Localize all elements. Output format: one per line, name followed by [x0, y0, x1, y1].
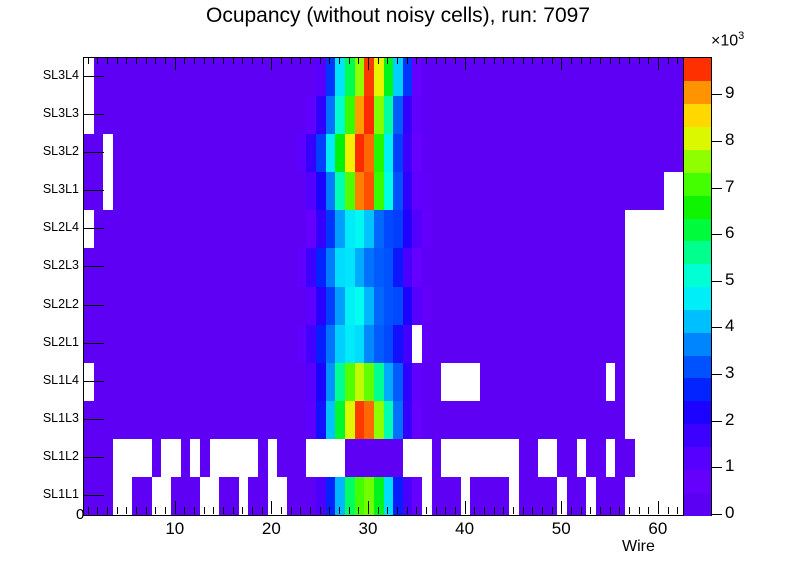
x-axis-top-tick	[242, 57, 243, 64]
x-axis-top-tick	[320, 57, 321, 64]
x-axis-top-tick	[619, 57, 620, 64]
x-axis-top-tick	[349, 57, 350, 64]
x-axis-top-tick	[494, 57, 495, 64]
x-axis-minor-tick	[204, 507, 205, 514]
x-axis-top-tick	[387, 57, 388, 64]
y-axis-tick	[83, 495, 104, 496]
colorbar-segment	[684, 469, 711, 492]
x-axis-top-tick	[107, 57, 108, 64]
x-axis-top-tick	[677, 57, 678, 64]
y-axis-tick	[83, 152, 104, 153]
y-axis-tick	[83, 305, 104, 306]
colorbar-tick	[711, 514, 722, 515]
x-axis-minor-tick	[184, 507, 185, 514]
x-axis-top-tick	[658, 57, 659, 70]
x-axis-top-tick	[368, 57, 369, 70]
x-axis-top-tick	[416, 57, 417, 64]
x-axis-top-tick	[310, 57, 311, 64]
x-axis-minor-tick	[146, 507, 147, 514]
x-axis-minor-tick	[677, 507, 678, 514]
x-axis-top-tick	[648, 57, 649, 64]
y-axis-tick	[83, 419, 104, 420]
heatmap-cell	[673, 401, 683, 440]
x-axis-minor-tick	[262, 507, 263, 514]
x-axis-minor-tick	[494, 507, 495, 514]
colorbar-segment	[684, 127, 711, 150]
x-axis-minor-tick	[233, 507, 234, 514]
y-axis-tick	[83, 343, 104, 344]
x-axis-tick-label: 20	[251, 519, 291, 539]
x-axis-top-tick	[590, 57, 591, 64]
x-axis-minor-tick	[223, 507, 224, 514]
y-axis-tick-label: SL1L2	[21, 449, 79, 463]
x-axis-top-tick	[233, 57, 234, 64]
colorbar-segment	[684, 264, 711, 287]
heatmap-cell	[673, 439, 683, 478]
x-axis-top-tick	[194, 57, 195, 64]
colorbar-segment	[684, 492, 711, 515]
x-axis-major-tick	[271, 501, 272, 514]
x-axis-minor-tick	[349, 507, 350, 514]
x-axis-major-tick	[368, 501, 369, 514]
x-axis-top-tick	[629, 57, 630, 64]
colorbar-tick-label: 0	[725, 503, 734, 523]
x-axis-minor-tick	[503, 507, 504, 514]
x-axis-top-tick	[513, 57, 514, 64]
x-axis-minor-tick	[590, 507, 591, 514]
heatmap-cell	[673, 248, 683, 287]
x-axis-minor-tick	[532, 507, 533, 514]
x-axis-major-tick	[561, 501, 562, 514]
x-axis-minor-tick	[310, 507, 311, 514]
x-axis-top-tick	[445, 57, 446, 64]
x-axis-minor-tick	[300, 507, 301, 514]
y-axis-tick	[83, 266, 104, 267]
page-title: Ocupancy (without noisy cells), run: 709…	[0, 4, 796, 28]
colorbar-segment	[684, 401, 711, 424]
x-axis-top-tick	[281, 57, 282, 64]
x-axis-minor-tick	[552, 507, 553, 514]
x-axis-top-tick	[136, 57, 137, 64]
colorbar-segment	[684, 332, 711, 355]
colorbar-tick-label: 4	[725, 316, 734, 336]
heatmap-cell	[673, 210, 683, 249]
x-axis-minor-tick	[581, 507, 582, 514]
colorbar-tick	[711, 374, 722, 375]
y-axis-tick	[83, 114, 104, 115]
x-axis-top-tick	[503, 57, 504, 64]
x-axis-top-tick	[126, 57, 127, 64]
x-axis-minor-tick	[252, 507, 253, 514]
x-axis-minor-tick	[407, 507, 408, 514]
x-axis-minor-tick	[126, 507, 127, 514]
x-axis-minor-tick	[97, 507, 98, 514]
x-axis-minor-tick	[445, 507, 446, 514]
x-axis-minor-tick	[387, 507, 388, 514]
x-axis-minor-tick	[455, 507, 456, 514]
x-axis-top-tick	[542, 57, 543, 64]
x-axis-major-tick	[465, 501, 466, 514]
colorbar-segment	[684, 81, 711, 104]
x-axis-top-tick	[484, 57, 485, 64]
x-axis-top-tick	[668, 57, 669, 64]
colorbar-segment	[684, 104, 711, 127]
colorbar-segment	[684, 241, 711, 264]
x-axis-top-tick	[581, 57, 582, 64]
x-axis-top-tick	[474, 57, 475, 64]
x-axis-origin-label: 0	[76, 506, 84, 523]
x-axis-top-tick	[358, 57, 359, 64]
colorbar-tick-label: 1	[725, 456, 734, 476]
heatmap-cell	[673, 134, 683, 173]
x-axis-minor-tick	[648, 507, 649, 514]
x-axis-top-tick	[165, 57, 166, 64]
colorbar-tick-label: 5	[725, 270, 734, 290]
colorbar-tick-label: 7	[725, 177, 734, 197]
x-axis-minor-tick	[117, 507, 118, 514]
x-axis-top-tick	[329, 57, 330, 64]
y-axis-tick	[83, 190, 104, 191]
x-axis-major-tick	[658, 501, 659, 514]
x-axis-tick-label: 60	[638, 519, 678, 539]
colorbar-tick	[711, 234, 722, 235]
x-axis-top-tick	[300, 57, 301, 64]
x-axis-top-tick	[426, 57, 427, 64]
chart-canvas: Ocupancy (without noisy cells), run: 709…	[0, 0, 796, 572]
colorbar	[683, 57, 712, 516]
colorbar-tick-label: 9	[725, 83, 734, 103]
colorbar-tick	[711, 281, 722, 282]
colorbar-segment	[684, 149, 711, 172]
x-axis-minor-tick	[397, 507, 398, 514]
x-axis-tick-label: 50	[541, 519, 581, 539]
x-axis-top-tick	[523, 57, 524, 64]
x-axis-top-tick	[204, 57, 205, 64]
x-axis-top-tick	[436, 57, 437, 64]
x-axis-minor-tick	[358, 507, 359, 514]
x-axis-minor-tick	[329, 507, 330, 514]
x-axis-minor-tick	[339, 507, 340, 514]
colorbar-tick	[711, 327, 722, 328]
colorbar-exponent: ×103	[711, 30, 744, 50]
y-axis-tick	[83, 76, 104, 77]
x-axis-minor-tick	[474, 507, 475, 514]
heatmap-cell	[673, 363, 683, 402]
x-axis-minor-tick	[600, 507, 601, 514]
x-axis-top-tick	[223, 57, 224, 64]
colorbar-segment	[684, 309, 711, 332]
x-axis-top-tick	[117, 57, 118, 64]
x-axis-minor-tick	[619, 507, 620, 514]
colorbar-exponent-power: 3	[738, 30, 744, 42]
colorbar-segment	[684, 424, 711, 447]
colorbar-tick	[711, 467, 722, 468]
x-axis-top-tick	[532, 57, 533, 64]
y-axis-tick-label: SL2L1	[21, 335, 79, 349]
x-axis-minor-tick	[629, 507, 630, 514]
colorbar-segment	[684, 378, 711, 401]
x-axis-minor-tick	[571, 507, 572, 514]
y-axis-tick-label: SL1L1	[21, 487, 79, 501]
x-axis-tick-label: 10	[155, 519, 195, 539]
heatmap-cell	[673, 58, 683, 97]
x-axis-tick-label: 30	[348, 519, 388, 539]
x-axis-minor-tick	[291, 507, 292, 514]
x-axis-minor-tick	[416, 507, 417, 514]
colorbar-segment	[684, 172, 711, 195]
heatmap-cell	[673, 172, 683, 211]
x-axis-top-tick	[610, 57, 611, 64]
y-axis-tick	[83, 381, 104, 382]
x-axis-minor-tick	[378, 507, 379, 514]
heatmap-cell	[673, 287, 683, 326]
x-axis-minor-tick	[213, 507, 214, 514]
x-axis-minor-tick	[523, 507, 524, 514]
x-axis-top-tick	[155, 57, 156, 64]
y-axis-tick-label: SL3L3	[21, 106, 79, 120]
x-axis-tick-label: 40	[445, 519, 485, 539]
heatmap-cell	[673, 477, 683, 515]
y-axis-tick-label: SL3L4	[21, 68, 79, 82]
y-axis-tick-label: SL1L3	[21, 411, 79, 425]
x-axis-minor-tick	[165, 507, 166, 514]
x-axis-top-tick	[184, 57, 185, 64]
x-axis-top-tick	[175, 57, 176, 70]
x-axis-top-tick	[378, 57, 379, 64]
x-axis-minor-tick	[639, 507, 640, 514]
colorbar-exponent-prefix: ×10	[711, 32, 738, 49]
x-axis-top-tick	[397, 57, 398, 64]
heatmap-cell	[673, 96, 683, 135]
heatmap-plot-area	[83, 57, 684, 516]
x-axis-top-tick	[97, 57, 98, 64]
x-axis-top-tick	[407, 57, 408, 64]
x-axis-top-tick	[252, 57, 253, 64]
colorbar-segment	[684, 195, 711, 218]
colorbar-tick-label: 2	[725, 410, 734, 430]
colorbar-tick	[711, 94, 722, 95]
x-axis-minor-tick	[426, 507, 427, 514]
x-axis-minor-tick	[194, 507, 195, 514]
x-axis-top-tick	[639, 57, 640, 64]
y-axis-tick-label: SL1L4	[21, 373, 79, 387]
colorbar-tick	[711, 421, 722, 422]
x-axis-minor-tick	[610, 507, 611, 514]
x-axis-minor-tick	[242, 507, 243, 514]
x-axis-top-tick	[600, 57, 601, 64]
x-axis-minor-tick	[320, 507, 321, 514]
x-axis-minor-tick	[155, 507, 156, 514]
heatmap-cell	[673, 325, 683, 364]
x-axis-top-tick	[571, 57, 572, 64]
y-axis-tick	[83, 457, 104, 458]
x-axis-top-tick	[465, 57, 466, 70]
colorbar-segment	[684, 287, 711, 310]
x-axis-minor-tick	[668, 507, 669, 514]
x-axis-major-tick	[175, 501, 176, 514]
x-axis-minor-tick	[436, 507, 437, 514]
x-axis-top-tick	[271, 57, 272, 70]
colorbar-tick-label: 3	[725, 363, 734, 383]
x-axis-minor-tick	[107, 507, 108, 514]
colorbar-segment	[684, 355, 711, 378]
y-axis-tick	[83, 228, 104, 229]
x-axis-top-tick	[291, 57, 292, 64]
y-axis-tick-label: SL2L4	[21, 220, 79, 234]
y-axis-tick-label: SL3L2	[21, 144, 79, 158]
x-axis-minor-tick	[484, 507, 485, 514]
colorbar-segment	[684, 446, 711, 469]
x-axis-top-tick	[455, 57, 456, 64]
colorbar-tick	[711, 141, 722, 142]
x-axis-title: Wire	[622, 538, 655, 556]
x-axis-top-tick	[552, 57, 553, 64]
x-axis-top-tick	[213, 57, 214, 64]
colorbar-segment	[684, 58, 711, 81]
x-axis-top-tick	[339, 57, 340, 64]
y-axis-tick-label: SL2L3	[21, 258, 79, 272]
x-axis-minor-tick	[281, 507, 282, 514]
colorbar-segment	[684, 218, 711, 241]
x-axis-top-tick	[262, 57, 263, 64]
x-axis-minor-tick	[136, 507, 137, 514]
x-axis-minor-tick	[88, 507, 89, 514]
colorbar-tick-label: 6	[725, 223, 734, 243]
heatmap-cells	[84, 58, 683, 515]
y-axis-tick-label: SL2L2	[21, 297, 79, 311]
x-axis-minor-tick	[513, 507, 514, 514]
y-axis-tick-label: SL3L1	[21, 182, 79, 196]
x-axis-top-tick	[561, 57, 562, 70]
colorbar-tick-label: 8	[725, 130, 734, 150]
x-axis-top-tick	[88, 57, 89, 64]
x-axis-top-tick	[146, 57, 147, 64]
colorbar-tick	[711, 188, 722, 189]
x-axis-minor-tick	[542, 507, 543, 514]
